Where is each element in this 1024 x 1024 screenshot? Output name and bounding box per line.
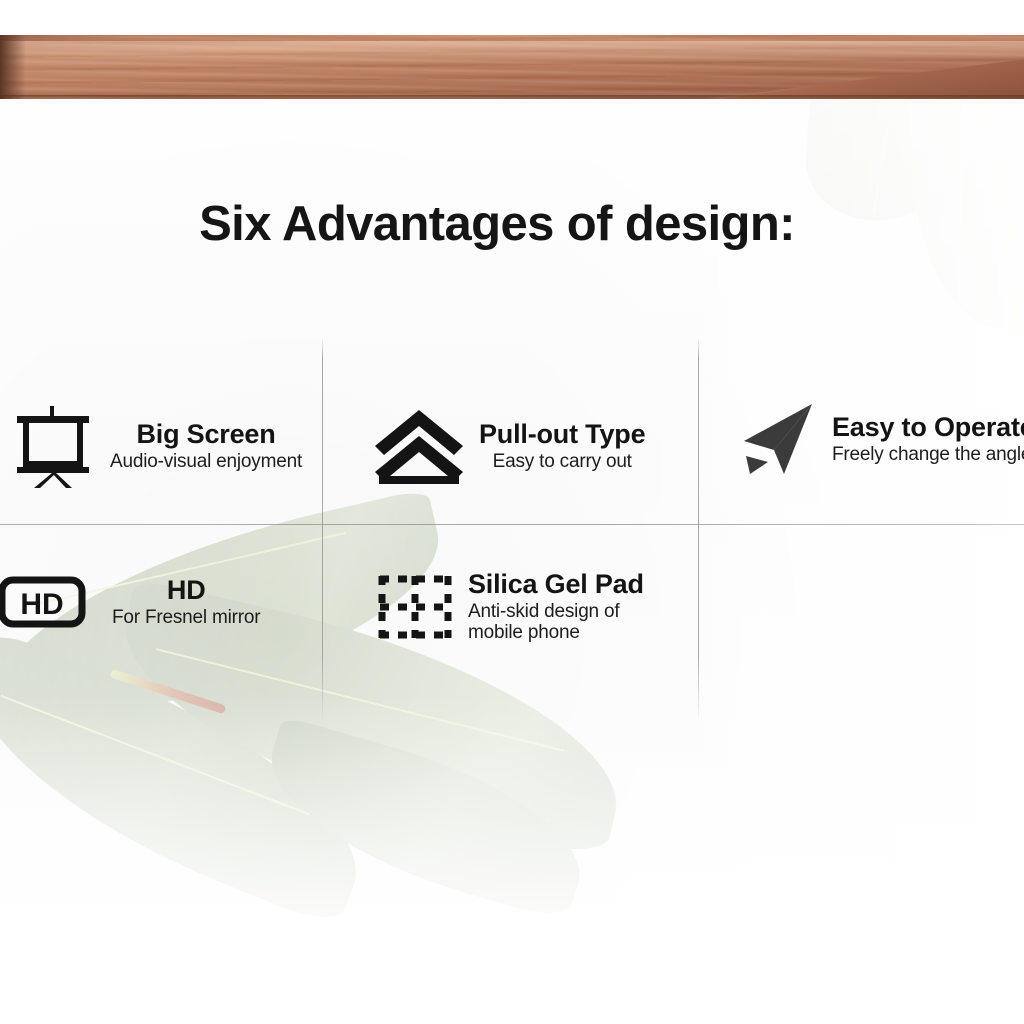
feature-big-screen: Big Screen Audio-visual enjoyment bbox=[10, 404, 302, 488]
double-chevron-up-icon bbox=[373, 404, 465, 488]
feature-text: Silica Gel Pad Anti-skid design of mobil… bbox=[468, 570, 644, 643]
wooden-table-edge bbox=[0, 35, 1024, 99]
projector-screen-icon bbox=[10, 404, 96, 488]
feature-subtitle: Freely change the angle bbox=[832, 444, 1024, 465]
feature-title: HD bbox=[112, 576, 260, 605]
wood-bottom-edge bbox=[0, 95, 1024, 99]
feature-title: Silica Gel Pad bbox=[468, 570, 644, 599]
feature-text: Easy to Operate Freely change the angle bbox=[832, 413, 1024, 465]
feature-title: Pull-out Type bbox=[479, 420, 645, 449]
feature-subtitle: Easy to carry out bbox=[479, 451, 645, 472]
feature-subtitle-line1: Anti-skid design of bbox=[468, 601, 644, 622]
divider-vertical-left bbox=[322, 337, 323, 723]
dashed-grid-icon bbox=[376, 573, 454, 641]
feature-subtitle: Audio-visual enjoyment bbox=[110, 451, 302, 472]
product-infographic: Six Advantages of design: Big Screen bbox=[0, 0, 1024, 1024]
divider-horizontal bbox=[0, 524, 1024, 525]
svg-text:HD: HD bbox=[20, 588, 63, 621]
paper-plane-icon bbox=[736, 398, 818, 480]
feature-easy-to-operate: Easy to Operate Freely change the angle bbox=[736, 398, 1024, 480]
feature-hd: HD HD For Fresnel mirror bbox=[0, 576, 260, 628]
feature-text: Big Screen Audio-visual enjoyment bbox=[110, 420, 302, 472]
feature-silica-gel-pad: Silica Gel Pad Anti-skid design of mobil… bbox=[376, 570, 644, 643]
feature-title: Big Screen bbox=[110, 420, 302, 449]
page-title: Six Advantages of design: bbox=[0, 196, 994, 252]
feature-title: Easy to Operate bbox=[832, 413, 1024, 442]
wood-highlight bbox=[0, 41, 1024, 63]
feature-subtitle-line2: mobile phone bbox=[468, 622, 644, 643]
hd-badge-icon: HD bbox=[0, 576, 86, 628]
top-white-margin bbox=[0, 0, 1024, 35]
feature-text: Pull-out Type Easy to carry out bbox=[479, 420, 645, 472]
content-layer: Six Advantages of design: Big Screen bbox=[0, 0, 1024, 1024]
feature-subtitle: For Fresnel mirror bbox=[112, 607, 260, 628]
feature-text: HD For Fresnel mirror bbox=[112, 576, 260, 628]
wood-shadow-left bbox=[0, 35, 26, 99]
divider-vertical-right bbox=[698, 337, 699, 723]
feature-pull-out-type: Pull-out Type Easy to carry out bbox=[373, 404, 645, 488]
